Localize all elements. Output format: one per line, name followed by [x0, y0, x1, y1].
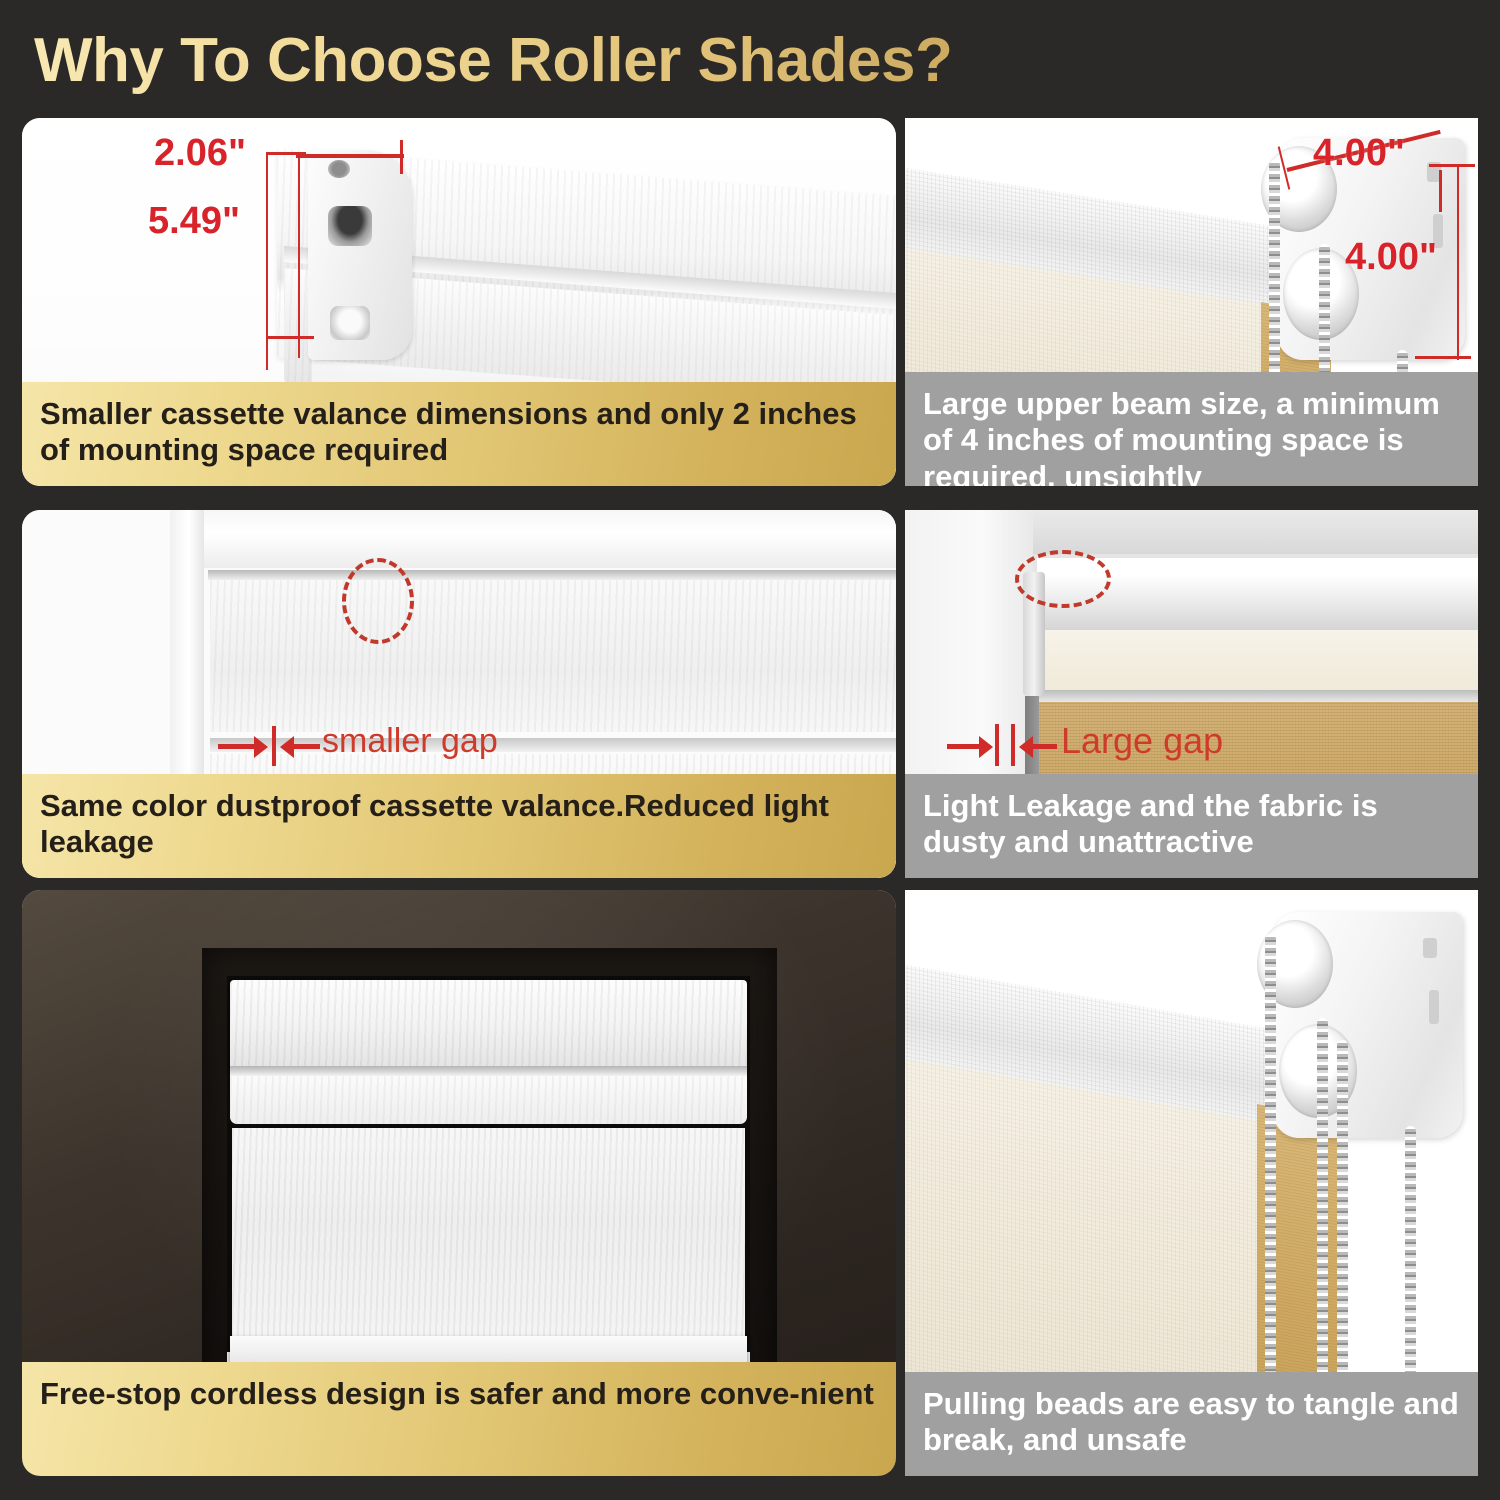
caption-middle-left-text: Same color dustproof cassette valance.Re… [40, 788, 878, 861]
gap-marker-bar-left [995, 724, 999, 766]
shade-upper-band-shape [210, 580, 896, 732]
panel-bottom-right: Pulling beads are easy to tangle and bre… [905, 890, 1478, 1476]
caption-middle-left: Same color dustproof cassette valance.Re… [22, 774, 896, 878]
bracket-slot-upper-icon [1423, 938, 1437, 958]
bracket-slot-lower-icon [1429, 990, 1439, 1024]
panel-top-left: 5.49" 2.06" Smaller cassette valance dim… [22, 118, 896, 486]
caption-bottom-left: Free-stop cordless design is safer and m… [22, 1362, 896, 1476]
caption-bottom-right-text: Pulling beads are easy to tangle and bre… [923, 1386, 1460, 1459]
dim-tick-beam-right [1439, 170, 1442, 212]
caption-bottom-left-text: Free-stop cordless design is safer and m… [40, 1376, 878, 1412]
gap-arrow-right-line [294, 744, 320, 749]
bl-valance-lip-shape [230, 1066, 747, 1076]
endcap-screw-bottom-icon [330, 306, 370, 340]
caption-middle-right: Light Leakage and the fabric is dusty an… [905, 774, 1478, 878]
caption-bottom-right: Pulling beads are easy to tangle and bre… [905, 1372, 1478, 1476]
caption-top-left: Smaller cassette valance dimensions and … [22, 382, 896, 486]
bl-shade-fabric-shape [232, 1128, 745, 1338]
gap-arrow-left-head [979, 736, 993, 758]
bead-chain-left [1269, 160, 1280, 406]
panel-top-right: 4.00" 4.00" Large upper beam size, a min… [905, 118, 1478, 486]
dim-tick-height-top [266, 152, 306, 155]
highlight-circle-icon [342, 558, 414, 644]
dimension-label-width: 2.06" [154, 132, 246, 175]
gap-label-large: Large gap [1061, 720, 1223, 762]
gap-marker-bar [272, 726, 276, 766]
window-head-shape [170, 510, 896, 568]
gap-arrow-left-line [947, 744, 981, 749]
dim-tick-height-bottom [266, 336, 314, 339]
bl-valance-shape [230, 980, 747, 1068]
mr-rail-shape [1037, 690, 1478, 702]
endcap-screw-top-icon [328, 160, 350, 178]
dim-line-width [296, 154, 404, 158]
caption-top-right: Large upper beam size, a minimum of 4 in… [905, 372, 1478, 486]
dimension-label-beam-width: 4.00" [1313, 132, 1405, 175]
mr-valance-bar-shape [1037, 630, 1478, 692]
gap-marker-bar-right [1011, 724, 1015, 766]
bead-chain-left [1265, 934, 1276, 1446]
caption-top-right-text: Large upper beam size, a minimum of 4 in… [923, 386, 1460, 486]
dimension-label-beam-height: 4.00" [1345, 236, 1437, 279]
endcap-knob-icon [328, 206, 372, 246]
dim-line-beam-height [1457, 164, 1459, 360]
caption-top-left-text: Smaller cassette valance dimensions and … [40, 396, 878, 469]
dim-tick-width-right [400, 140, 403, 174]
panel-bottom-left: Free-stop cordless design is safer and m… [22, 890, 896, 1476]
dim-line-vertical-left [298, 152, 300, 358]
gap-label-small: smaller gap [322, 722, 498, 761]
panel-middle-right: Large gap Light Leakage and the fabric i… [905, 510, 1478, 878]
comparison-grid: 5.49" 2.06" Smaller cassette valance dim… [0, 0, 1500, 1500]
panel-middle-left: smaller gap Same color dustproof cassett… [22, 510, 896, 878]
dim-tick-beamh-top [1429, 164, 1475, 167]
gap-arrow-left-head [254, 736, 268, 758]
caption-middle-right-text: Light Leakage and the fabric is dusty an… [923, 788, 1460, 861]
gap-arrow-left-line [218, 744, 256, 749]
gap-arrow-right-line [1033, 744, 1057, 749]
dim-tick-beamh-bottom [1415, 356, 1471, 359]
gap-arrow-right-head [280, 736, 294, 758]
highlight-circle-icon [1015, 550, 1111, 608]
bl-valance-lower-shape [230, 1076, 747, 1124]
gap-arrow-right-head [1019, 736, 1033, 758]
dimension-label-height: 5.49" [148, 200, 240, 243]
shade-top-rail-shape [208, 570, 896, 580]
